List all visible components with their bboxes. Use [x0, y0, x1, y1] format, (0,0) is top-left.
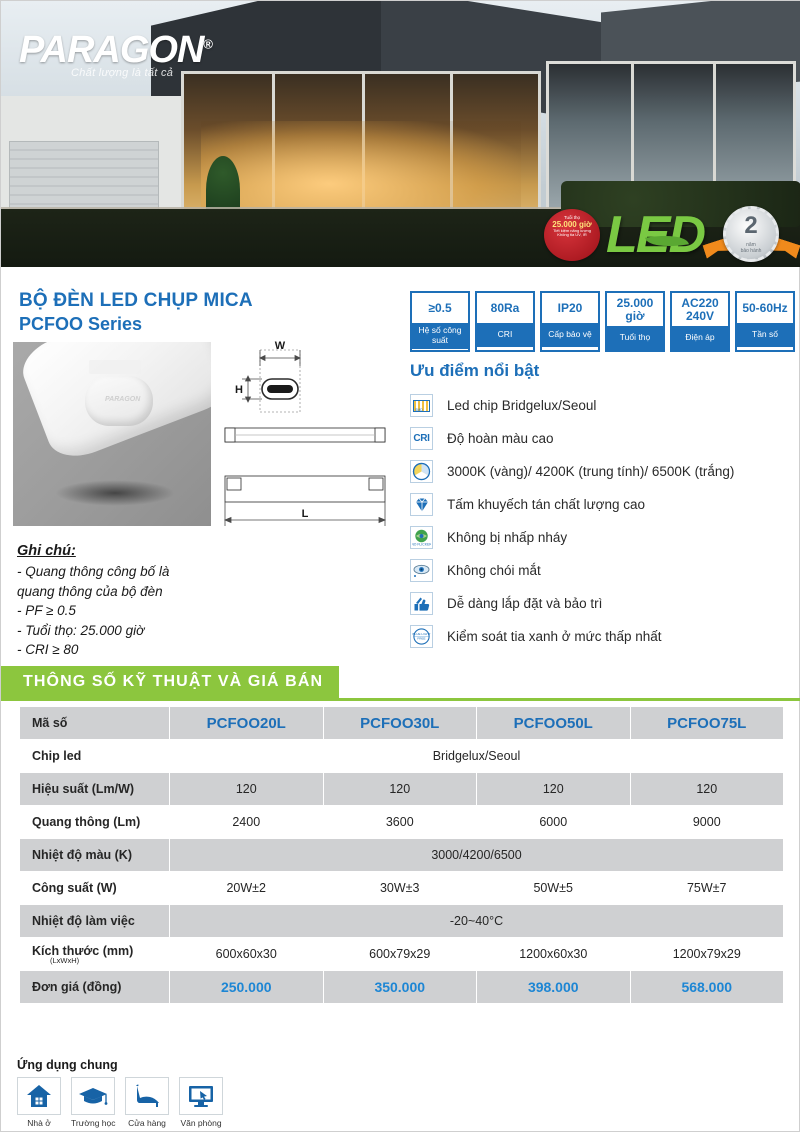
- row-label: Quang thông (Lm): [20, 806, 170, 839]
- power-value: 30W±3: [323, 872, 477, 905]
- row-label: Chip led: [20, 740, 170, 773]
- notes-heading: Ghi chú:: [17, 543, 76, 559]
- application-item-school: Trường học: [71, 1077, 115, 1128]
- spec-badge-value: 50-60Hz: [737, 293, 793, 323]
- feature-item: BLUE LIGHT FREE Kiểm soát tia xanh ở mức…: [410, 620, 800, 653]
- notes-line: - Tuổi thọ: 25.000 giờ: [17, 621, 169, 641]
- application-label: Văn phòng: [179, 1118, 223, 1128]
- feature-item: Không chói mắt: [410, 554, 800, 587]
- section-banner-wrap: THÔNG SỐ KỸ THUẬT VÀ GIÁ BÁN: [1, 666, 800, 701]
- spec-badge-value: ≥0.5: [412, 293, 468, 323]
- efficacy-value: 120: [477, 773, 631, 806]
- spec-badge-value: 80Ra: [477, 293, 533, 323]
- monitor-icon: [179, 1077, 223, 1115]
- efficacy-value: 120: [630, 773, 784, 806]
- feature-label: Không bị nhấp nháy: [447, 530, 567, 545]
- flux-value: 6000: [477, 806, 631, 839]
- svg-text:FREE: FREE: [417, 637, 425, 641]
- notes-line: - PF ≥ 0.5: [17, 601, 169, 621]
- feature-label: Dễ dàng lắp đặt và bảo trì: [447, 596, 602, 611]
- svg-text:NO FLICKER: NO FLICKER: [412, 543, 431, 547]
- spec-badge-value: 25.000 giờ: [607, 293, 663, 326]
- application-label: Trường học: [71, 1118, 115, 1128]
- model-code: PCFOO30L: [323, 707, 477, 740]
- row-label: Nhiệt độ làm việc: [20, 905, 170, 938]
- table-row-operating-temp: Nhiệt độ làm việc -20~40°C: [20, 905, 784, 938]
- spec-badge-label: Tần số: [737, 323, 793, 347]
- row-label: Kích thước (mm) (LxWxH): [20, 938, 170, 971]
- feature-item: Dễ dàng lắp đặt và bảo trì: [410, 587, 800, 620]
- spec-badge-label: Tuổi thọ: [607, 326, 663, 350]
- table-row-power: Công suất (W) 20W±2 30W±3 50W±5 75W±7: [20, 872, 784, 905]
- power-value: 75W±7: [630, 872, 784, 905]
- dimension-label-w: W: [275, 340, 286, 352]
- spec-badge-value: AC220 240V: [672, 293, 728, 326]
- lifetime-badge: Tuổi thọ 25.000 giờ Tiết kiệm năng lượng…: [544, 209, 600, 261]
- table-row-cct: Nhiệt độ màu (K) 3000/4200/6500: [20, 839, 784, 872]
- lamp-sticker: [89, 360, 141, 374]
- applications-heading: Ứng dụng chung: [17, 1058, 118, 1072]
- spec-badge-frequency: 50-60Hz Tần số: [735, 291, 795, 352]
- application-item-shop: Cửa hàng: [125, 1077, 169, 1128]
- operating-temp-value: -20~40°C: [170, 905, 784, 938]
- section-banner-title: THÔNG SỐ KỸ THUẬT VÀ GIÁ BÁN: [1, 666, 339, 698]
- registered-mark: ®: [203, 36, 212, 51]
- table-row-efficacy: Hiệu suất (Lm/W) 120 120 120 120: [20, 773, 784, 806]
- product-photo: PARAGON: [13, 342, 211, 526]
- product-title-line2: PCFOO Series: [19, 313, 253, 336]
- blue-light-control-icon: BLUE LIGHT FREE: [410, 625, 433, 648]
- feature-label: Tấm khuyếch tán chất lượng cao: [447, 497, 645, 512]
- features-list: Led chip Bridgelux/Seoul CRI Độ hoàn màu…: [410, 389, 800, 653]
- dimension-value: 1200x79x29: [630, 938, 784, 971]
- logo-text: PARAGON: [19, 29, 203, 71]
- dimension-label-h: H: [235, 384, 243, 396]
- application-item-home: Nhà ở: [17, 1077, 61, 1128]
- feature-item: Tấm khuyếch tán chất lượng cao: [410, 488, 800, 521]
- product-title-line1: BỘ ĐÈN LED CHỤP MICA: [19, 289, 253, 313]
- spec-badge-power-factor: ≥0.5 Hệ số công suất: [410, 291, 470, 352]
- flux-value: 9000: [630, 806, 784, 839]
- feature-item: CRI Độ hoàn màu cao: [410, 422, 800, 455]
- table-row-model: Mã số PCFOO20L PCFOO30L PCFOO50L PCFOO75…: [20, 707, 784, 740]
- applications-list: Nhà ở Trường học Cửa hàng: [17, 1077, 223, 1128]
- power-value: 20W±2: [170, 872, 324, 905]
- features-heading: Ưu điểm nổi bật: [410, 361, 539, 381]
- flux-value: 3600: [323, 806, 477, 839]
- flux-value: 2400: [170, 806, 324, 839]
- no-glare-eye-icon: [410, 559, 433, 582]
- feature-label: Kiểm soát tia xanh ở mức thấp nhất: [447, 629, 662, 644]
- row-label: Nhiệt độ màu (K): [20, 839, 170, 872]
- brand-tagline: Chất lượng là tất cả: [71, 67, 173, 79]
- spec-badge-cri: 80Ra CRI: [475, 291, 535, 352]
- technical-drawing: W H L: [215, 336, 395, 531]
- spec-badge-value: IP20: [542, 293, 598, 323]
- feature-label: Độ hoàn màu cao: [447, 431, 554, 446]
- table-row-flux: Quang thông (Lm) 2400 3600 6000 9000: [20, 806, 784, 839]
- application-item-office: Văn phòng: [179, 1077, 223, 1128]
- spec-badge-label: CRI: [477, 323, 533, 347]
- feature-item: 3000K (vàng)/ 4200K (trung tính)/ 6500K …: [410, 455, 800, 488]
- efficacy-value: 120: [170, 773, 324, 806]
- chip-led-value: Bridgelux/Seoul: [170, 740, 784, 773]
- hero-image: PARAGON® Chất lượng là tất cả Tuổi thọ 2…: [1, 1, 800, 267]
- spec-badge-label: Điện áp: [672, 326, 728, 350]
- model-code: PCFOO50L: [477, 707, 631, 740]
- row-label: Mã số: [20, 707, 170, 740]
- lamp-endcap-brand: PARAGON: [105, 396, 140, 403]
- high-heel-shoe-icon: [125, 1077, 169, 1115]
- application-label: Nhà ở: [17, 1118, 61, 1128]
- diamond-icon: [410, 493, 433, 516]
- graduation-cap-icon: [71, 1077, 115, 1115]
- notes-line: - Quang thông công bố là: [17, 562, 169, 582]
- datasheet-page: PARAGON® Chất lượng là tất cả Tuổi thọ 2…: [0, 0, 800, 1132]
- specifications-table: Mã số PCFOO20L PCFOO30L PCFOO50L PCFOO75…: [19, 706, 784, 1004]
- row-label-text: Kích thước (mm): [32, 944, 133, 958]
- row-label: Công suất (W): [20, 872, 170, 905]
- feature-label: 3000K (vàng)/ 4200K (trung tính)/ 6500K …: [447, 464, 734, 479]
- technical-drawing-svg: W H L: [215, 336, 395, 531]
- easy-install-thumb-icon: [410, 592, 433, 615]
- price-value: 250.000: [170, 971, 324, 1004]
- model-code: PCFOO75L: [630, 707, 784, 740]
- spec-badge-ip-rating: IP20 Cấp bảo vệ: [540, 291, 600, 352]
- spec-badge-label: Hệ số công suất: [412, 323, 468, 349]
- spec-badge-row: ≥0.5 Hệ số công suất 80Ra CRI IP20 Cấp b…: [410, 291, 795, 352]
- spec-badge-label: Cấp bảo vệ: [542, 323, 598, 347]
- notes-line: - CRI ≥ 80: [17, 640, 169, 660]
- feature-item: Led chip Bridgelux/Seoul: [410, 389, 800, 422]
- color-sphere-icon: [410, 460, 433, 483]
- cct-value: 3000/4200/6500: [170, 839, 784, 872]
- application-label: Cửa hàng: [125, 1118, 169, 1128]
- table-row-chip: Chip led Bridgelux/Seoul: [20, 740, 784, 773]
- warranty-text: bảo hành: [726, 249, 776, 255]
- feature-item: NO FLICKER Không bị nhấp nháy: [410, 521, 800, 554]
- smd-chip-icon: [410, 394, 433, 417]
- led-wordmark: LED: [606, 205, 704, 265]
- notes-line: quang thông của bộ đèn: [17, 582, 169, 602]
- price-value: 568.000: [630, 971, 784, 1004]
- row-label: Đơn giá (đồng): [20, 971, 170, 1004]
- product-title: BỘ ĐÈN LED CHỤP MICA PCFOO Series: [19, 289, 253, 336]
- feature-label: Không chói mắt: [447, 563, 541, 578]
- price-value: 398.000: [477, 971, 631, 1004]
- svg-text:BLUE LIGHT: BLUE LIGHT: [412, 632, 430, 636]
- model-code: PCFOO20L: [170, 707, 324, 740]
- cri-icon: CRI: [410, 427, 433, 450]
- table-row-dimensions: Kích thước (mm) (LxWxH) 600x60x30 600x79…: [20, 938, 784, 971]
- power-value: 50W±5: [477, 872, 631, 905]
- spec-badge-voltage: AC220 240V Điện áp: [670, 291, 730, 352]
- efficacy-value: 120: [323, 773, 477, 806]
- feature-label: Led chip Bridgelux/Seoul: [447, 398, 596, 413]
- product-shadow: [55, 480, 175, 506]
- paragon-logo: PARAGON®: [19, 29, 212, 72]
- dimension-value: 600x60x30: [170, 938, 324, 971]
- no-flicker-icon: NO FLICKER: [410, 526, 433, 549]
- dimension-value: 600x79x29: [323, 938, 477, 971]
- dimension-label-l: L: [302, 508, 309, 520]
- lamp-end-cap: PARAGON: [85, 376, 153, 426]
- warranty-badge: 2 năm bảo hành: [723, 206, 779, 262]
- row-label: Hiệu suất (Lm/W): [20, 773, 170, 806]
- lifetime-badge-line4: Không tia UV, IR: [544, 233, 600, 237]
- warranty-years: 2: [726, 209, 776, 243]
- dimension-value: 1200x60x30: [477, 938, 631, 971]
- price-value: 350.000: [323, 971, 477, 1004]
- table-row-price: Đơn giá (đồng) 250.000 350.000 398.000 5…: [20, 971, 784, 1004]
- house-icon: [17, 1077, 61, 1115]
- section-banner-rule: [1, 698, 800, 701]
- spec-badge-lifetime: 25.000 giờ Tuổi thọ: [605, 291, 665, 352]
- notes-block: Ghi chú: - Quang thông công bố là quang …: [17, 541, 169, 660]
